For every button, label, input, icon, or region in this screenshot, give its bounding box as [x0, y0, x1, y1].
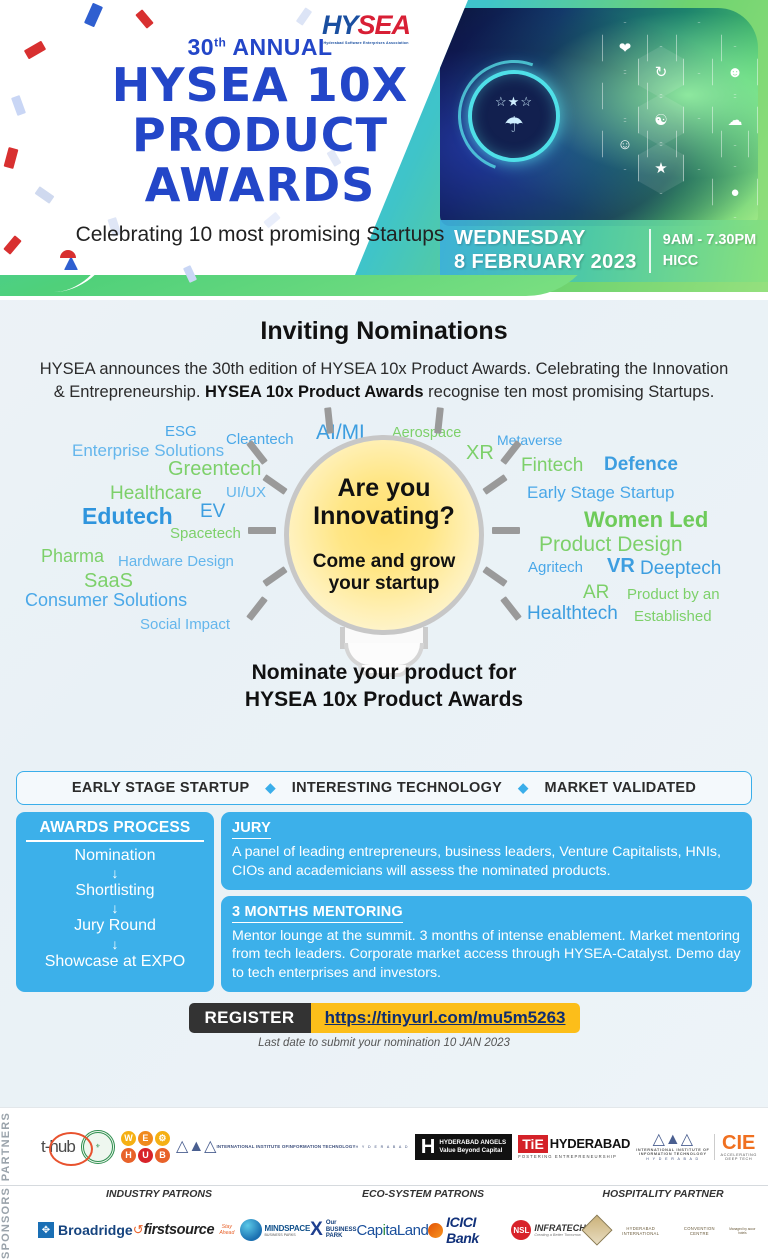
logo-iiit-hyderabad: △▲△ INTERNATIONAL INSTITUTE OF INFORMATI…: [176, 1139, 409, 1155]
logo-t-hub: t-hub: [41, 1137, 75, 1157]
hysea-logo: HYSEA Hyderabad Software Enterprises Ass…: [322, 12, 410, 45]
mindspace-globe-icon: [240, 1219, 262, 1241]
divider: [649, 229, 651, 273]
awards-process-card: AWARDS PROCESS Nomination ↓ Shortlisting…: [16, 812, 214, 992]
wehub-letter-u: U: [138, 1148, 153, 1163]
page-title: Inviting Nominations: [0, 317, 768, 346]
hex-pin-icon: ●: [712, 166, 758, 218]
partners-label: PARTNERS: [0, 1112, 30, 1181]
process-step: Jury Round: [22, 916, 208, 935]
mentoring-card-body: Mentor lounge at the summit. 3 months of…: [232, 927, 741, 984]
mentoring-card: 3 MONTHS MENTORING Mentor lounge at the …: [221, 896, 752, 993]
word-cloud-term: Agritech: [528, 559, 583, 576]
tree-icon: △▲△: [636, 1132, 709, 1148]
hicc-diamond-icon: [581, 1215, 612, 1246]
diamond-icon: ◆: [518, 780, 528, 796]
down-arrow-icon: ↓: [22, 865, 208, 881]
word-cloud-term: Pharma: [41, 546, 104, 567]
hyderabad-angels-mark: H: [421, 1138, 435, 1156]
icici-mark: [428, 1223, 443, 1238]
word-cloud-term: Defence: [604, 454, 678, 476]
logo-icici-bank: ICICI Bank: [428, 1214, 511, 1246]
criteria-bar: EARLY STAGE STARTUP ◆ INTERESTING TECHNO…: [16, 771, 752, 805]
word-cloud-term: Fintech: [521, 455, 583, 477]
word-cloud-term: Metaverse: [497, 432, 562, 448]
jury-card-title: JURY: [232, 820, 271, 839]
word-cloud-term: XR: [466, 442, 494, 465]
sponsors-row: SPONSORS INDUSTRY PATRONS ECO-SYSTEM PAT…: [0, 1185, 768, 1260]
mentoring-card-title: 3 MONTHS MENTORING: [232, 904, 403, 923]
nominate-callout: Nominate your product for HYSEA 10x Prod…: [0, 659, 768, 714]
word-cloud-term: Cleantech: [226, 431, 294, 448]
wehub-gear-icon: ⚙: [155, 1131, 170, 1146]
t-hub-ring-icon: [49, 1132, 93, 1166]
jury-card-body: A panel of leading entrepreneurs, busine…: [232, 843, 741, 881]
title-line-2: PRODUCT: [0, 108, 520, 162]
nsl-mark: NSL: [511, 1220, 531, 1240]
word-cloud-term: Healthtech: [527, 603, 618, 625]
logo-tie-hyderabad: TiE HYDERABAD FOSTERING ENTREPRENEURSHIP: [518, 1135, 630, 1159]
diamond-icon: ◆: [265, 780, 275, 796]
lightbulb-graphic: Are you Innovating? Come and grow your s…: [284, 435, 484, 635]
category-industry-patrons: INDUSTRY PATRONS: [30, 1188, 288, 1200]
word-cloud-term: Greentech: [168, 458, 261, 481]
category-hospitality-partner: HOSPITALITY PARTNER: [558, 1188, 768, 1200]
wehub-letter-w: W: [121, 1131, 136, 1146]
category-eco-system-patrons: ECO-SYSTEM PATRONS: [288, 1188, 558, 1200]
logo-tagline: Hyderabad Software Enterprises Associati…: [322, 41, 410, 45]
sponsor-categories: INDUSTRY PATRONS ECO-SYSTEM PATRONS HOSP…: [30, 1188, 768, 1200]
title-line-1: HYSEA 10X: [0, 58, 520, 112]
criteria-item-2: MARKET VALIDATED: [544, 780, 696, 796]
broadridge-mark: ✥: [38, 1222, 54, 1238]
logo-we-hub: W E ⚙ H U B: [121, 1131, 170, 1163]
register-section: REGISTER https://tinyurl.com/mu5m5263 La…: [0, 1003, 768, 1049]
word-cloud-term: VR: [607, 555, 635, 578]
logo-text-red: SEA: [358, 10, 411, 40]
awards-process-title: AWARDS PROCESS: [26, 819, 204, 842]
process-section: AWARDS PROCESS Nomination ↓ Shortlisting…: [16, 812, 752, 992]
criteria-item-0: EARLY STAGE STARTUP: [72, 780, 250, 796]
word-cloud-term: Product by an: [627, 586, 720, 603]
title-line-3: AWARDS: [0, 158, 520, 212]
logo-capitaland: CapitaLand: [357, 1222, 429, 1239]
bulb-question: Are you Innovating?: [313, 474, 455, 531]
logo-firstsource: ↺ firstsource Stay Ahead: [133, 1222, 240, 1238]
logo-mindspace: MINDSPACE BUSINESS PARKS: [240, 1219, 311, 1241]
logo-our-business-park: X Our BUSINESS PARK: [310, 1220, 356, 1241]
invite-description: HYSEA announces the 30th edition of HYSE…: [34, 358, 734, 405]
word-cloud-term: UI/UX: [226, 484, 266, 501]
bulb-cta: Come and grow your startup: [313, 551, 456, 597]
firstsource-swirl-icon: ↺: [133, 1225, 144, 1234]
wehub-letter-e: E: [138, 1131, 153, 1146]
word-cloud-term: EV: [200, 501, 225, 523]
invite-text-post: recognise ten most promising Startups.: [424, 383, 715, 401]
word-cloud-term: Women Led: [584, 507, 708, 533]
register-label: REGISTER: [189, 1003, 311, 1033]
sponsors-label: SPONSORS: [0, 1187, 30, 1259]
logo-hicc: HYDERABAD INTERNATIONAL CONVENTION CENTR…: [586, 1219, 760, 1241]
logo-text-blue: HY: [322, 10, 358, 40]
register-url-link[interactable]: https://tinyurl.com/mu5m5263: [311, 1003, 580, 1033]
word-cloud-term: Established: [634, 608, 712, 625]
event-time-venue: 9AM - 7.30PM HICC: [663, 230, 756, 272]
down-arrow-icon: ↓: [22, 900, 208, 916]
word-cloud-term: Product Design: [539, 533, 683, 557]
criteria-item-1: INTERESTING TECHNOLOGY: [292, 780, 502, 796]
logo-hyderabad-angels: H HYDERABAD ANGELS Value Beyond Capital: [415, 1134, 512, 1160]
header-banner: ☆★☆ ☂ ❤ ↻ ☻ ☯ ☺ ★ ☁ ♫ ● WEDNESDAY 8 FEBR…: [0, 0, 768, 300]
partners-row: PARTNERS t-hub ⚜ W E ⚙ H U B △▲△: [0, 1107, 768, 1185]
wehub-letter-h: H: [121, 1148, 136, 1163]
tree-icon: △▲△: [176, 1139, 216, 1155]
word-cloud-term: Spacetech: [170, 525, 241, 542]
word-cloud-term: Early Stage Startup: [527, 483, 674, 503]
annual-line: 30th ANNUAL: [0, 34, 520, 61]
innovation-bulb-section: ESGCleantechAI/MLAerospaceMetaverseXREnt…: [0, 415, 768, 765]
invite-text-bold: HYSEA 10x Product Awards: [205, 383, 424, 401]
logo-broadridge: ✥ Broadridge: [38, 1222, 133, 1238]
word-cloud-term: Consumer Solutions: [25, 590, 187, 611]
word-cloud-term: Deeptech: [640, 558, 721, 580]
down-arrow-icon: ↓: [22, 936, 208, 952]
word-cloud-term: Hardware Design: [118, 553, 234, 570]
process-step: Shortlisting: [22, 881, 208, 900]
word-cloud-term: Edutech: [82, 503, 173, 530]
process-step: Nomination: [22, 846, 208, 865]
business-park-mark: X: [310, 1220, 323, 1239]
register-deadline-note: Last date to submit your nomination 10 J…: [258, 1037, 510, 1049]
wehub-letter-b: B: [155, 1148, 170, 1163]
word-cloud-term: ESG: [165, 423, 197, 440]
word-cloud-term: Social Impact: [140, 616, 230, 633]
word-cloud-term: Healthcare: [110, 483, 202, 505]
footer: PARTNERS t-hub ⚜ W E ⚙ H U B △▲△: [0, 1107, 768, 1260]
jury-card: JURY A panel of leading entrepreneurs, b…: [221, 812, 752, 890]
logo-nsl-infratech: NSL INFRATECH Creating a Better Tomorrow: [511, 1220, 585, 1240]
word-cloud-term: AR: [583, 582, 609, 604]
logo-iiit-cie: △▲△ INTERNATIONAL INSTITUTE OF INFORMATI…: [636, 1132, 757, 1161]
process-step: Showcase at EXPO: [22, 952, 208, 971]
header-subtitle: Celebrating 10 most promising Startups: [0, 222, 520, 249]
